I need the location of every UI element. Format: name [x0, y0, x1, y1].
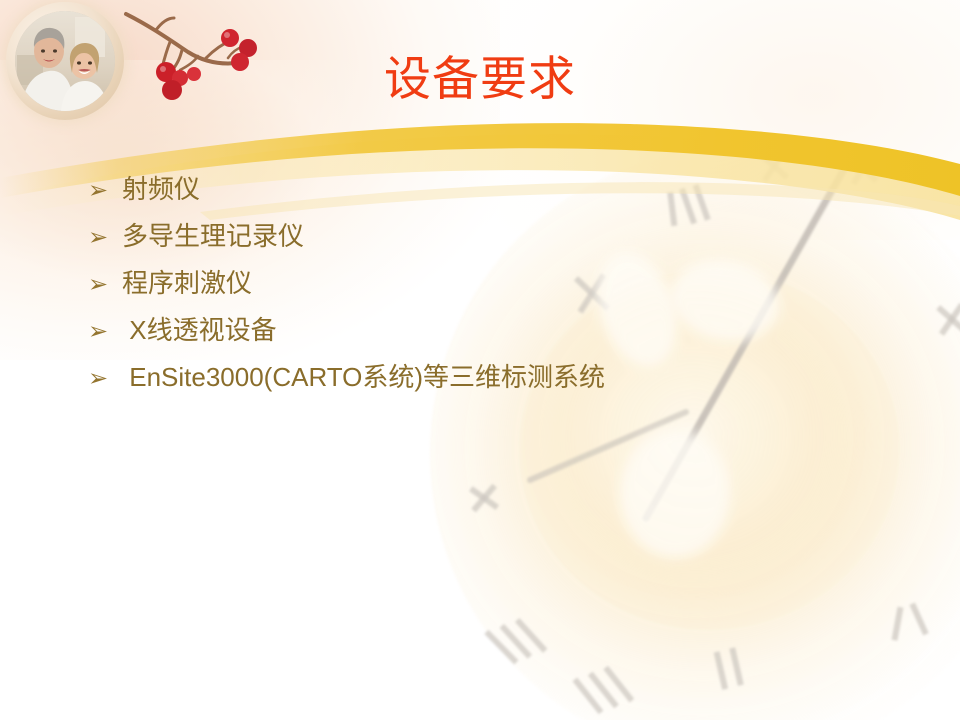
- arrow-bullet-icon: ➢: [88, 268, 122, 302]
- list-item-label: 射频仪: [122, 172, 200, 206]
- list-item: ➢ 射频仪: [88, 172, 908, 219]
- list-item: ➢ X线透视设备: [88, 313, 908, 360]
- list-item: ➢ EnSite3000(CARTO系统)等三维标测系统: [88, 360, 908, 407]
- list-item: ➢ 多导生理记录仪: [88, 219, 908, 266]
- arrow-bullet-icon: ➢: [88, 174, 122, 208]
- list-item-label: X线透视设备: [122, 313, 277, 347]
- list-item-label: 程序刺激仪: [122, 266, 252, 300]
- page-title: 设备要求: [0, 50, 960, 108]
- arrow-bullet-icon: ➢: [88, 315, 122, 349]
- arrow-bullet-icon: ➢: [88, 362, 122, 396]
- clock-highlight-blob-3: [620, 430, 730, 558]
- list-item-label: 多导生理记录仪: [122, 219, 304, 253]
- arrow-bullet-icon: ➢: [88, 221, 122, 255]
- slide: 设备要求 ➢ 射频仪 ➢ 多导生理记录仪 ➢ 程序刺激仪 ➢ X线透视设备 ➢ …: [0, 0, 960, 720]
- list-item: ➢ 程序刺激仪: [88, 266, 908, 313]
- list-item-label: EnSite3000(CARTO系统)等三维标测系统: [122, 360, 605, 394]
- bullet-list: ➢ 射频仪 ➢ 多导生理记录仪 ➢ 程序刺激仪 ➢ X线透视设备 ➢ EnSit…: [88, 172, 908, 407]
